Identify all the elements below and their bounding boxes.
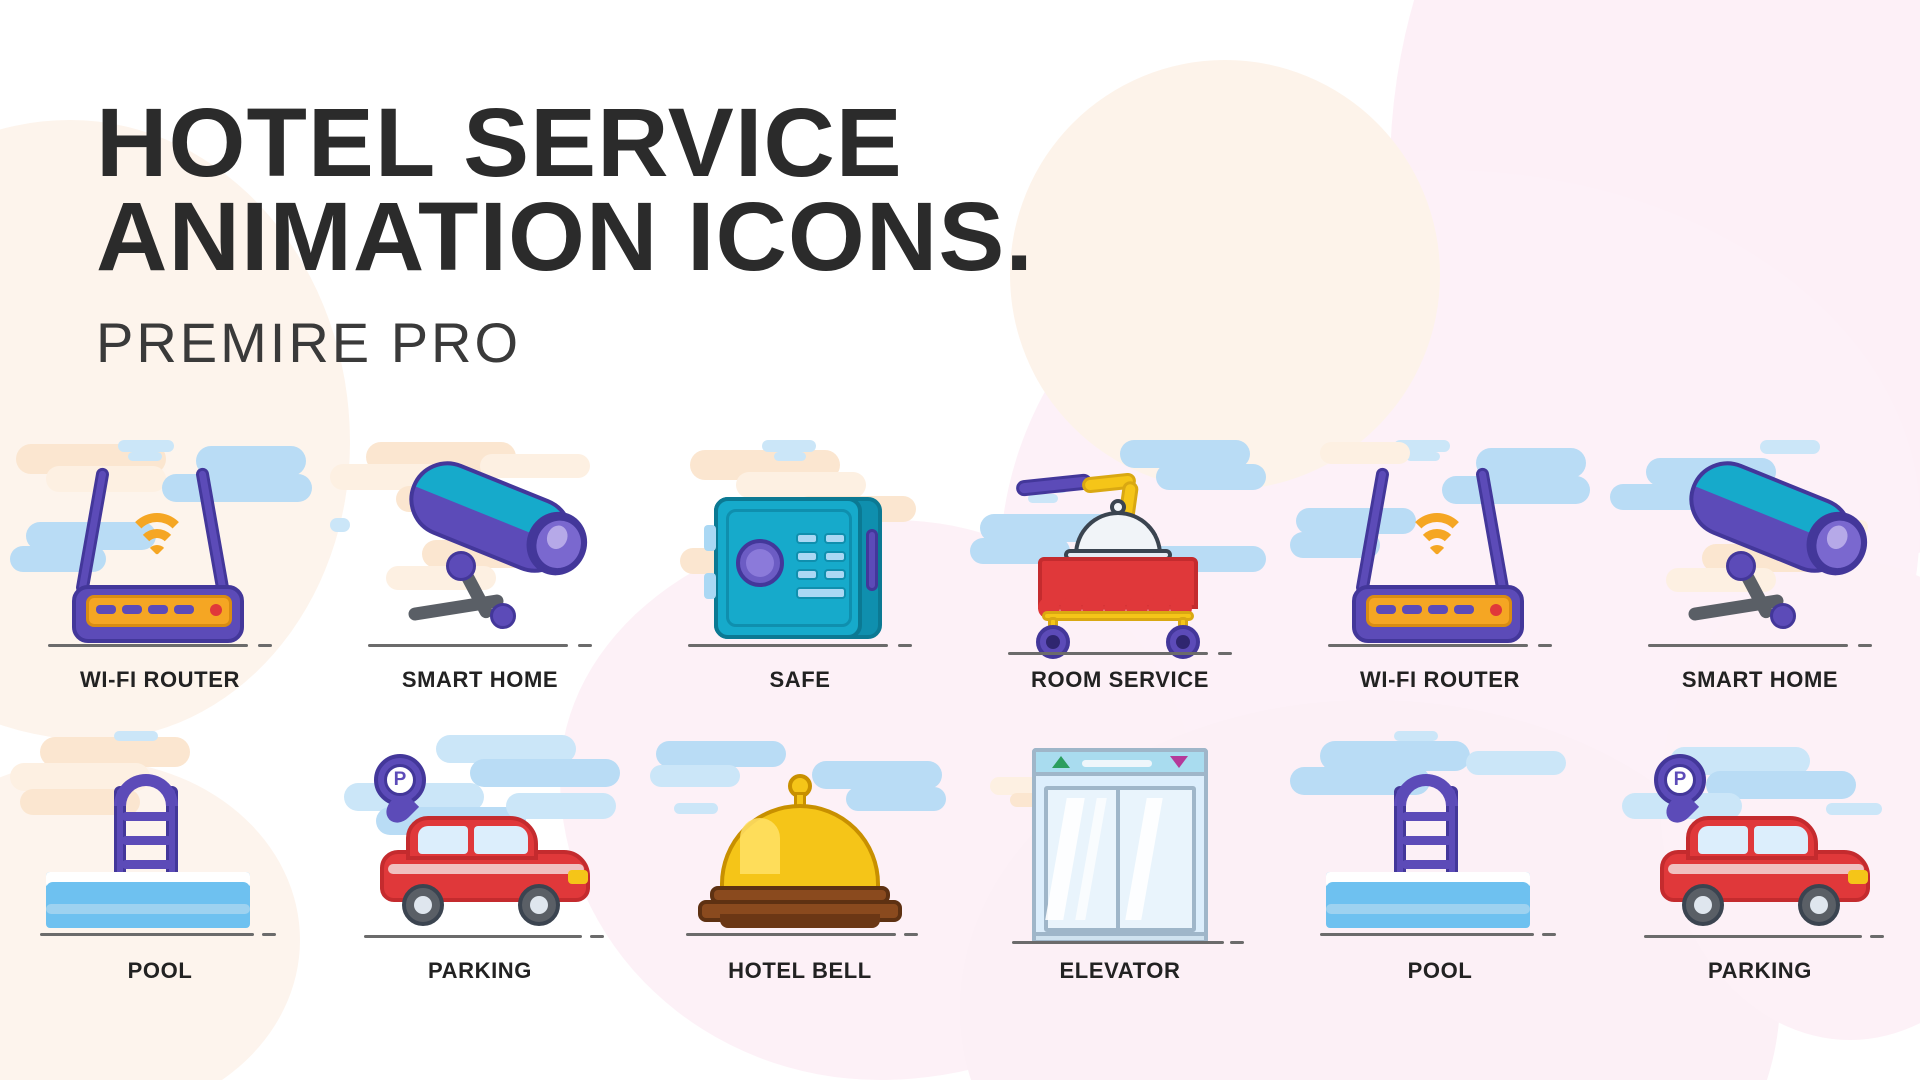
- icon-label: PARKING: [428, 958, 532, 984]
- security-camera-icon: [350, 455, 610, 655]
- poster-header: HOTEL SERVICE ANIMATION ICONS. PREMIRE P…: [96, 96, 1016, 375]
- icon-artwork-area: P: [1610, 731, 1910, 946]
- swimming-pool-icon: [30, 746, 290, 946]
- icon-cell-elevator[interactable]: ELEVATOR: [960, 731, 1280, 984]
- icon-cell-pool-2[interactable]: POOL: [1280, 731, 1600, 984]
- icon-label: ELEVATOR: [1060, 958, 1181, 984]
- icon-artwork-area: [970, 731, 1270, 946]
- icon-grid-row: WI-FI ROUTER: [0, 440, 1920, 693]
- icon-label: PARKING: [1708, 958, 1812, 984]
- icon-label: SAFE: [769, 667, 830, 693]
- elevator-icon: [990, 746, 1250, 946]
- icon-artwork-area: [650, 731, 950, 946]
- icon-label: WI-FI ROUTER: [80, 667, 240, 693]
- room-service-cart-icon: [990, 455, 1250, 655]
- title-line-1: HOTEL SERVICE: [96, 96, 1034, 190]
- icon-grid-row: POOL P: [0, 731, 1920, 984]
- icon-cell-wifi-router-2[interactable]: WI-FI ROUTER: [1280, 440, 1600, 693]
- title-line-2: ANIMATION ICONS.: [96, 190, 1034, 284]
- icon-cell-hotel-bell[interactable]: HOTEL BELL: [640, 731, 960, 984]
- icon-label: WI-FI ROUTER: [1360, 667, 1520, 693]
- page-subtitle: PREMIRE PRO: [96, 310, 1016, 375]
- parking-car-icon: P: [350, 746, 610, 946]
- icon-artwork-area: [10, 440, 310, 655]
- background-blob-cream-soft: [1010, 60, 1440, 490]
- icon-cell-pool[interactable]: POOL: [0, 731, 320, 984]
- icon-cell-smart-home-2[interactable]: SMART HOME: [1600, 440, 1920, 693]
- icon-artwork-area: [330, 440, 630, 655]
- icon-label: POOL: [1408, 958, 1473, 984]
- poster-canvas: HOTEL SERVICE ANIMATION ICONS. PREMIRE P…: [0, 0, 1920, 1080]
- hotel-bell-icon: [670, 746, 930, 946]
- icon-cell-safe[interactable]: SAFE: [640, 440, 960, 693]
- wifi-router-icon: [1310, 455, 1570, 655]
- icon-artwork-area: [650, 440, 950, 655]
- icon-label: HOTEL BELL: [728, 958, 872, 984]
- icon-grid: WI-FI ROUTER: [0, 440, 1920, 984]
- icon-artwork-area: P: [330, 731, 630, 946]
- icon-artwork-area: [970, 440, 1270, 655]
- icon-label: SMART HOME: [402, 667, 558, 693]
- wifi-router-icon: [30, 455, 290, 655]
- page-title: HOTEL SERVICE ANIMATION ICONS.: [96, 96, 1034, 284]
- icon-label: SMART HOME: [1682, 667, 1838, 693]
- icon-artwork-area: [1290, 440, 1590, 655]
- parking-car-icon: P: [1630, 746, 1890, 946]
- icon-cell-wifi-router[interactable]: WI-FI ROUTER: [0, 440, 320, 693]
- icon-artwork-area: [10, 731, 310, 946]
- icon-artwork-area: [1290, 731, 1590, 946]
- safe-icon: [670, 455, 930, 655]
- swimming-pool-icon: [1310, 746, 1570, 946]
- icon-artwork-area: [1610, 440, 1910, 655]
- icon-cell-smart-home[interactable]: SMART HOME: [320, 440, 640, 693]
- icon-label: POOL: [128, 958, 193, 984]
- icon-label: ROOM SERVICE: [1031, 667, 1209, 693]
- security-camera-icon: [1630, 455, 1890, 655]
- icon-cell-room-service[interactable]: ROOM SERVICE: [960, 440, 1280, 693]
- icon-cell-parking-2[interactable]: P PARKING: [1600, 731, 1920, 984]
- icon-cell-parking[interactable]: P: [320, 731, 640, 984]
